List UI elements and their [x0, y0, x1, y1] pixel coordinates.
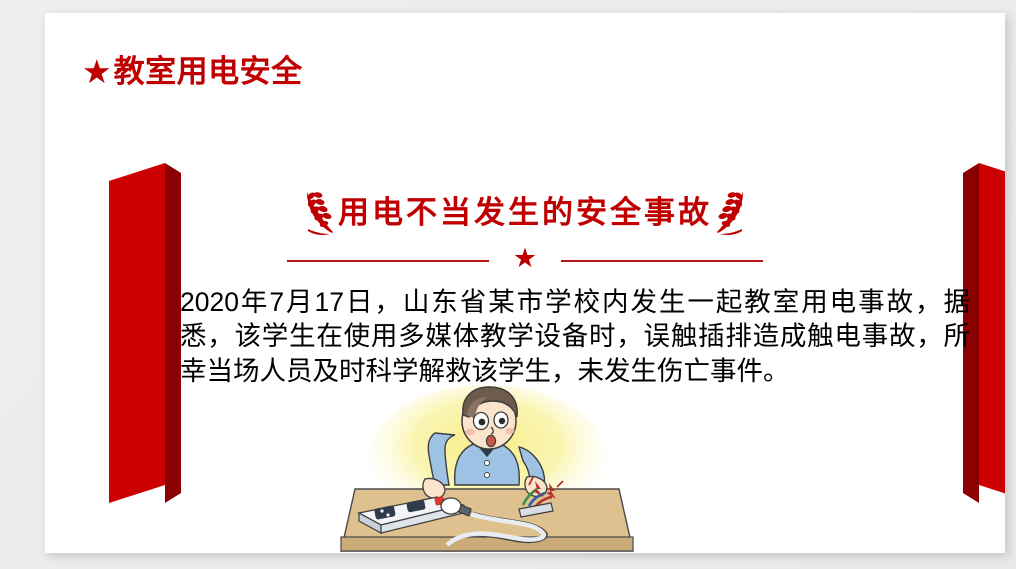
accident-illustration: [337, 385, 637, 553]
divider-star-icon: ★: [513, 245, 537, 272]
laurel-branch-right-icon: [714, 189, 748, 237]
star-icon: ★: [82, 55, 112, 88]
heading-divider: ★: [195, 247, 855, 274]
page-title: 教室用电安全: [114, 56, 303, 87]
divider-line-right: [561, 260, 763, 262]
section-heading-block: 用电不当发生的安全事故: [195, 189, 855, 274]
divider-line-left: [287, 260, 489, 262]
heading-row: 用电不当发生的安全事故: [195, 189, 855, 237]
section-heading-text: 用电不当发生的安全事故: [338, 196, 712, 230]
body-paragraph: 2020年7月17日，山东省某市学校内发生一起教室用电事故，据悉，该学生在使用多…: [180, 285, 970, 388]
slide-title: ★ 教室用电安全: [82, 55, 303, 88]
red-ribbon-left: [109, 163, 181, 503]
presentation-slide: ★ 教室用电安全: [45, 13, 1005, 553]
laurel-branch-left-icon: [302, 189, 336, 237]
page-background: ★ 教室用电安全: [0, 0, 1016, 569]
